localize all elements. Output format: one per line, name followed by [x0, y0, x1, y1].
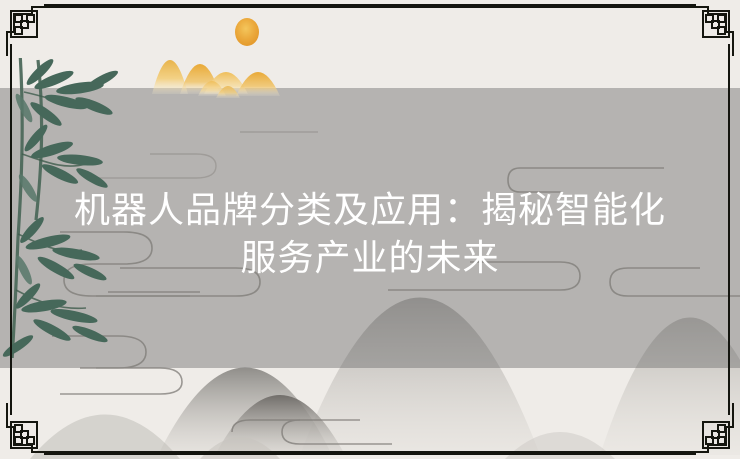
meander-pattern-icon	[684, 7, 733, 56]
corner-ornament-bottom-left	[2, 401, 58, 457]
corner-ornament-top-left	[2, 2, 58, 58]
sun-and-gold-mountains-illustration	[132, 8, 322, 108]
poster-banner: 机器人品牌分类及应用：揭秘智能化 服务产业的未来	[0, 0, 740, 459]
corner-ornament-top-right	[682, 2, 738, 58]
sun-icon	[235, 18, 259, 46]
meander-pattern-icon	[7, 403, 56, 452]
meander-pattern-icon	[7, 7, 56, 56]
page-title: 机器人品牌分类及应用：揭秘智能化 服务产业的未来	[40, 186, 700, 282]
frame-line-right	[728, 44, 730, 415]
corner-ornament-bottom-right	[682, 401, 738, 457]
frame-line-top	[44, 4, 696, 8]
title-line-2: 服务产业的未来	[40, 234, 700, 282]
meander-pattern-icon	[684, 403, 733, 452]
frame-line-bottom	[44, 451, 696, 455]
title-line-1: 机器人品牌分类及应用：揭秘智能化	[40, 186, 700, 234]
frame-line-left	[10, 44, 12, 415]
